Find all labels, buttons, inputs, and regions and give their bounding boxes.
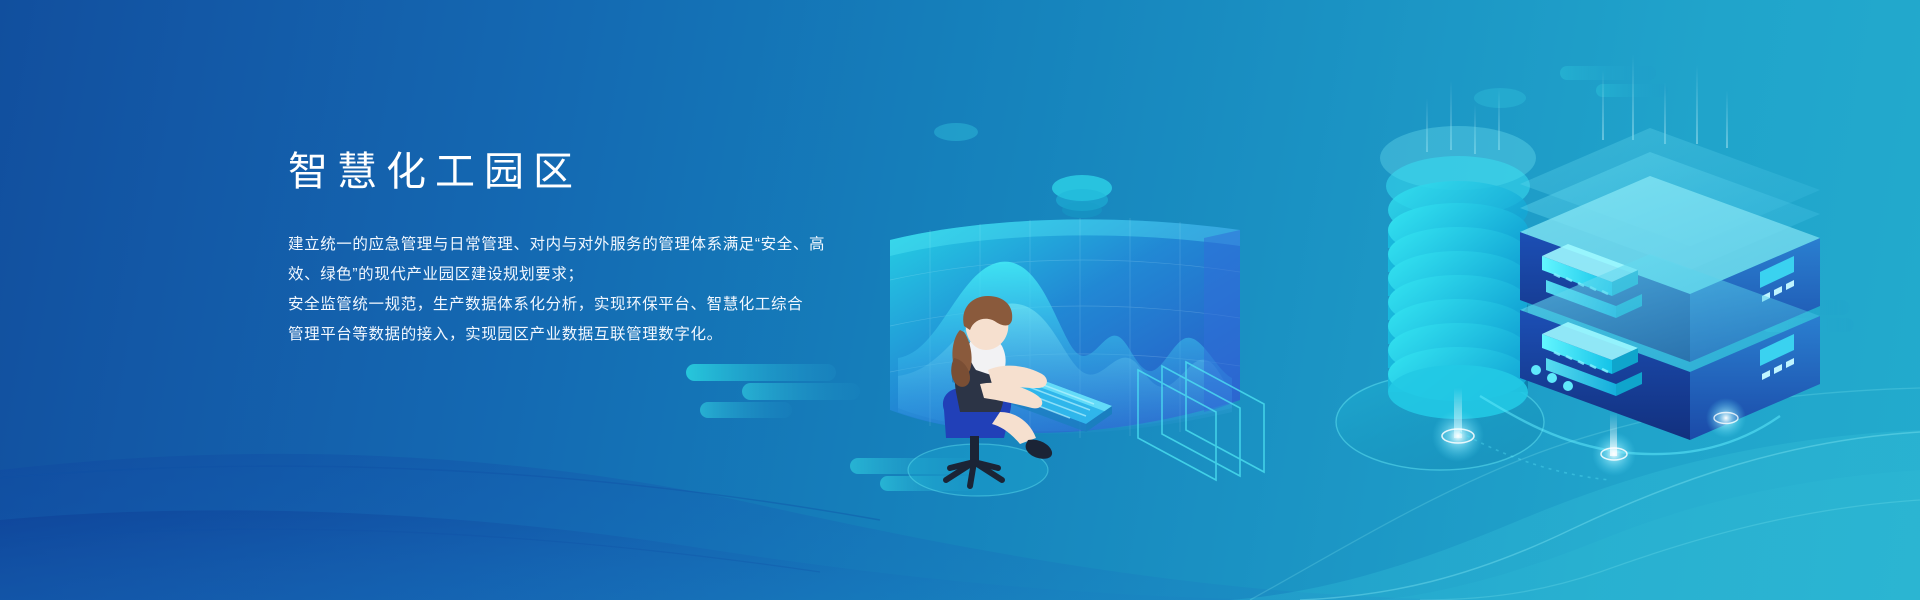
description-line-4: 管理平台等数据的接入，实现园区产业数据互联管理数字化。 [288, 320, 908, 350]
wave-line-left-2 [0, 529, 820, 572]
page-title: 智慧化工园区 [288, 148, 908, 196]
hero-illustration [860, 40, 1920, 520]
datacenter-illustration-svg [860, 40, 1920, 520]
hero-banner: 智慧化工园区 建立统一的应急管理与日常管理、对内与对外服务的管理体系满足“安全、… [0, 0, 1920, 600]
description-line-2: 效、绿色”的现代产业园区建设规划要求； [288, 260, 908, 290]
wave-bottom-left-2 [0, 510, 1330, 600]
description-line-1: 建立统一的应急管理与日常管理、对内与对外服务的管理体系满足“安全、高 [288, 230, 908, 260]
wave-line-left-1 [0, 466, 880, 520]
hero-text-block: 智慧化工园区 建立统一的应急管理与日常管理、对内与对外服务的管理体系满足“安全、… [288, 148, 908, 350]
hero-description: 建立统一的应急管理与日常管理、对内与对外服务的管理体系满足“安全、高 效、绿色”… [288, 230, 908, 350]
description-line-3: 安全监管统一规范，生产数据体系化分析，实现环保平台、智慧化工综合 [288, 290, 908, 320]
cylindrical-server-tower [1336, 80, 1544, 470]
tower-disc-stack [1388, 203, 1528, 419]
cloud-streak-group-left [686, 364, 860, 418]
